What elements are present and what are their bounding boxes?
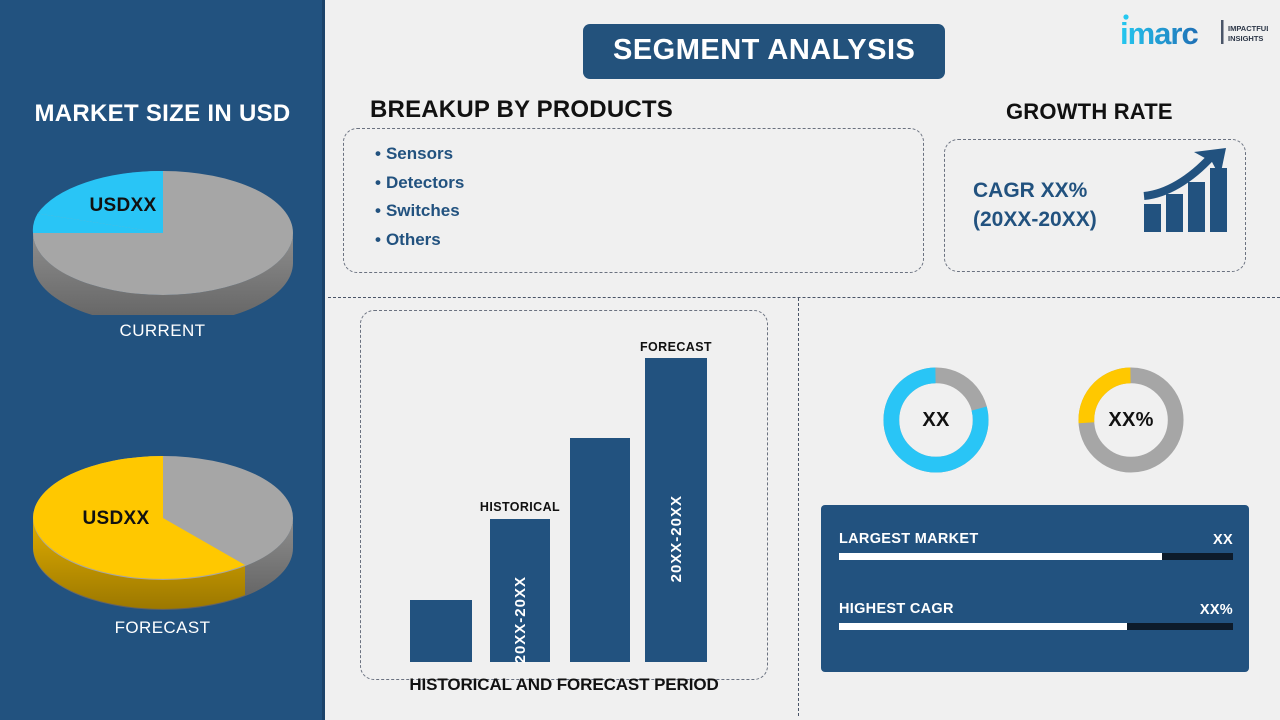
bar-inner-label: 20XX-20XX	[668, 495, 685, 582]
stat-progress-fill	[839, 553, 1162, 560]
page-title: SEGMENT ANALYSIS	[583, 24, 945, 79]
stat-label: LARGEST MARKET	[839, 531, 979, 547]
current-pie-svg	[28, 155, 298, 315]
products-section-title: BREAKUP BY PRODUCTS	[370, 96, 673, 124]
header: SEGMENT ANALYSIS imarc IMPACTFUL INSIGHT…	[325, 0, 1280, 98]
growth-rate-text: CAGR XX% (20XX-20XX)	[973, 176, 1097, 234]
growth-arrow-bar-icon	[1142, 146, 1234, 237]
highest-cagr-donut[interactable]: XX%	[1072, 361, 1190, 479]
largest-market-donut[interactable]: XX	[877, 361, 995, 479]
imarc-logo: imarc IMPACTFUL INSIGHTS	[1118, 12, 1268, 52]
stat-row: LARGEST MARKET XX	[839, 530, 1233, 560]
products-list: •Sensors •Detectors •Switches •Others	[375, 140, 464, 254]
list-item[interactable]: •Switches	[375, 197, 464, 226]
product-label: Switches	[386, 201, 460, 220]
growth-section-title: GROWTH RATE	[1006, 99, 1173, 125]
bar-annotation-historical: HISTORICAL	[475, 500, 565, 514]
bar-chart-axis-label: HISTORICAL AND FORECAST PERIOD	[360, 675, 768, 695]
growth-icon-svg	[1142, 146, 1234, 232]
list-item[interactable]: •Sensors	[375, 140, 464, 169]
stat-label: HIGHEST CAGR	[839, 601, 954, 617]
current-pie-chart: USDXX CURRENT	[0, 155, 325, 341]
cagr-period-line: (20XX-20XX)	[973, 205, 1097, 234]
bar-inner-label: 20XX-20XX	[512, 576, 529, 663]
stats-panel: LARGEST MARKET XX HIGHEST CAGR XX%	[821, 505, 1249, 672]
bullet-icon: •	[375, 201, 381, 220]
product-label: Detectors	[386, 173, 464, 192]
imarc-logo-svg: imarc IMPACTFUL INSIGHTS	[1118, 12, 1268, 52]
logo-tagline-line1: IMPACTFUL	[1228, 24, 1268, 33]
forecast-pie-svg	[28, 440, 298, 610]
stat-value: XX	[1213, 532, 1233, 548]
bullet-icon: •	[375, 144, 381, 163]
forecast-pie-chart: USDXX FORECAST	[0, 440, 325, 638]
stat-value: XX%	[1200, 602, 1233, 618]
logo-tagline-line2: INSIGHTS	[1228, 34, 1263, 43]
stat-row: HIGHEST CAGR XX%	[839, 600, 1233, 630]
current-pie-label: CURRENT	[0, 321, 325, 341]
list-item[interactable]: •Others	[375, 226, 464, 255]
current-pie-graphic: USDXX	[28, 155, 298, 315]
product-label: Others	[386, 230, 441, 249]
bar-annotation-forecast: FORECAST	[635, 340, 717, 354]
svg-text:imarc: imarc	[1120, 16, 1198, 51]
product-label: Sensors	[386, 144, 453, 163]
vertical-divider	[798, 298, 799, 716]
forecast-pie-graphic: USDXX	[28, 440, 298, 600]
stat-progress-fill	[839, 623, 1127, 630]
bar[interactable]: 20XX-20XX	[490, 519, 550, 662]
bar[interactable]	[570, 438, 630, 662]
donut-2-value: XX%	[1072, 361, 1190, 479]
bullet-icon: •	[375, 173, 381, 192]
sidebar-title: MARKET SIZE IN USD	[0, 100, 325, 128]
sidebar: MARKET SIZE IN USD USDXX CURRE	[0, 0, 325, 720]
cagr-line: CAGR XX%	[973, 176, 1097, 205]
donut-1-value: XX	[877, 361, 995, 479]
stat-progress-track	[839, 623, 1233, 630]
horizontal-divider	[328, 297, 1280, 298]
bar[interactable]	[410, 600, 472, 662]
bar[interactable]: 20XX-20XX	[645, 358, 707, 662]
list-item[interactable]: •Detectors	[375, 169, 464, 198]
forecast-pie-label: FORECAST	[0, 618, 325, 638]
stat-progress-track	[839, 553, 1233, 560]
bullet-icon: •	[375, 230, 381, 249]
bar-chart: 20XX-20XX HISTORICAL 20XX-20XX FORECAST	[360, 310, 768, 680]
